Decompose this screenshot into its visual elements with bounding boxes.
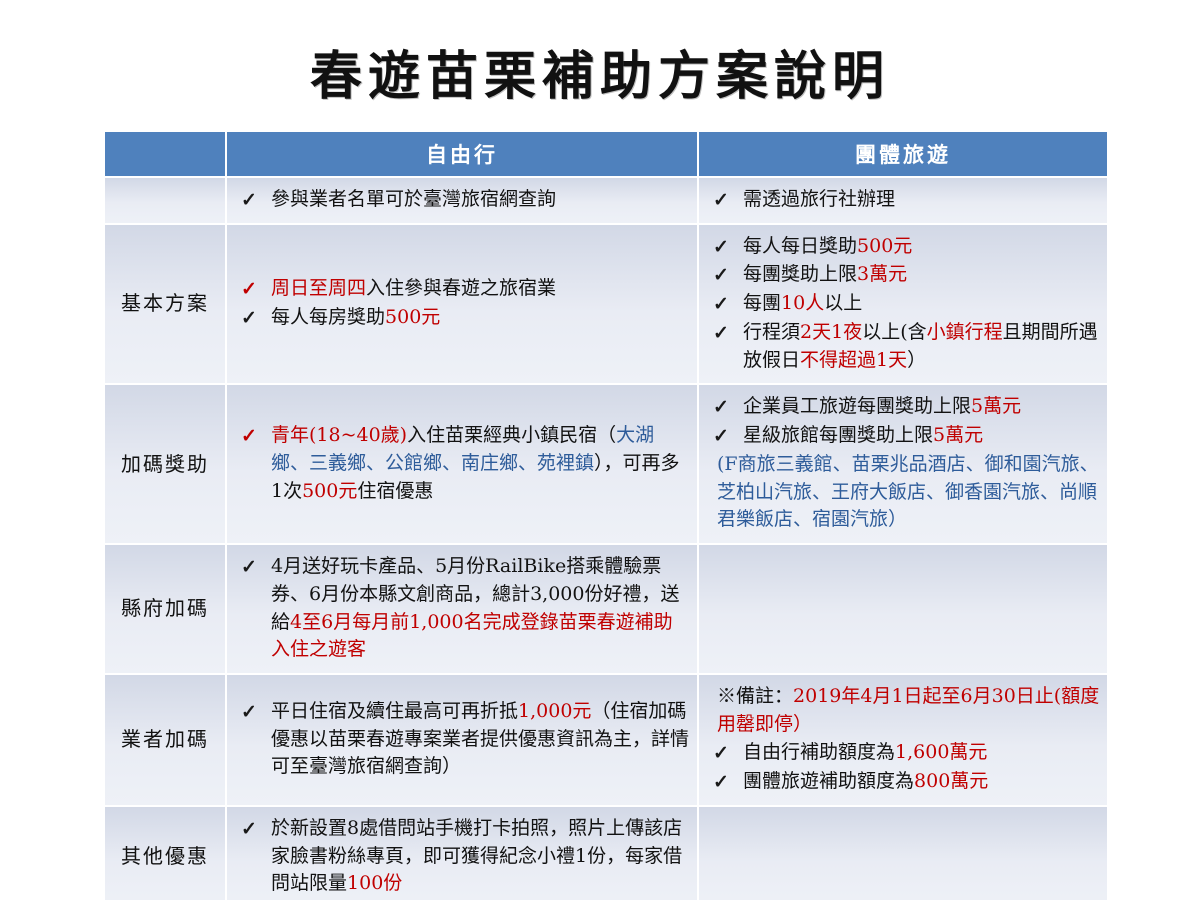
list-item: ✓每人每日獎助500元 [709,233,1101,261]
check-icon: ✓ [241,423,257,451]
list-item: ✓團體旅遊補助額度為800萬元 [709,768,1101,796]
header-group-tour: 團體旅遊 [699,132,1107,176]
text-segment: ） [907,349,926,371]
check-icon: ✓ [241,187,257,215]
text-segment: 每人每日獎助 [743,235,857,257]
cell-group-0: ✓需透過旅行社辦理 [699,178,1107,223]
table-row: 縣府加碼✓4月送好玩卡產品、5月份RailBike搭乘體驗票券、6月份本縣文創商… [105,545,1107,673]
cell-free-3: ✓4月送好玩卡產品、5月份RailBike搭乘體驗票券、6月份本縣文創商品，總計… [227,545,697,673]
check-icon: ✓ [713,394,729,422]
list-item: ✓4月送好玩卡產品、5月份RailBike搭乘體驗票券、6月份本縣文創商品，總計… [237,553,691,664]
row-label-2: 加碼獎助 [105,385,225,543]
text-segment: 不得超過1天 [800,349,907,371]
text-segment: 500元 [302,480,357,502]
text-segment: 800萬元 [914,770,988,792]
cell-group-2: ✓企業員工旅遊每團獎助上限5萬元✓星級旅館每團獎助上限5萬元(F商旅三義館、苗栗… [699,385,1107,543]
text-segment: 星級旅館每團獎助上限 [743,424,933,446]
text-segment: 2天1夜 [800,321,862,343]
list-item: ✓平日住宿及續住最高可再折抵1,000元（住宿加碼優惠以苗栗春遊專案業者提供優惠… [237,698,691,781]
cell-free-1: ✓周日至周四入住參與春遊之旅宿業✓每人每房獎助500元 [227,225,697,384]
check-icon: ✓ [713,291,729,319]
list-item: ✓每團10人以上 [709,290,1101,318]
check-icon: ✓ [713,320,729,348]
text-segment: 每團獎助上限 [743,263,857,285]
text-segment: 10人 [781,292,824,314]
list-item: ✓青年(18~40歲)入住苗栗經典小鎮民宿（大湖鄉、三義鄉、公館鄉、南庄鄉、苑裡… [237,422,691,505]
table-row: 基本方案✓周日至周四入住參與春遊之旅宿業✓每人每房獎助500元✓每人每日獎助50… [105,225,1107,384]
list-item: ✓自由行補助額度為1,600萬元 [709,739,1101,767]
cell-group-3 [699,545,1107,673]
text-segment: 住宿優惠 [357,480,433,502]
text-segment: 行程須 [743,321,800,343]
table-body: ✓參與業者名單可於臺灣旅宿網查詢✓需透過旅行社辦理基本方案✓周日至周四入住參與春… [105,178,1107,900]
row-label-1: 基本方案 [105,225,225,384]
text-segment: 周日至周四 [271,277,366,299]
header-free-travel: 自由行 [227,132,697,176]
text-segment: 需透過旅行社辦理 [743,188,895,210]
check-icon: ✓ [241,816,257,844]
cell-group-1: ✓每人每日獎助500元✓每團獎助上限3萬元✓每團10人以上✓行程須2天1夜以上(… [699,225,1107,384]
check-icon: ✓ [713,187,729,215]
footer: 苗栗縣政府 Miaoli County Government 苗栗縣政府文化觀光… [0,848,1200,900]
table-row: 加碼獎助✓青年(18~40歲)入住苗栗經典小鎮民宿（大湖鄉、三義鄉、公館鄉、南庄… [105,385,1107,543]
text-segment: 5萬元 [933,424,983,446]
check-icon: ✓ [241,699,257,727]
list-item: ✓企業員工旅遊每團獎助上限5萬元 [709,393,1101,421]
text-segment: 5萬元 [971,395,1021,417]
list-item: ✓周日至周四入住參與春遊之旅宿業 [237,275,691,303]
table-header-row: 自由行 團體旅遊 [105,132,1107,176]
header-corner [105,132,225,176]
text-segment: 每人每房獎助 [271,306,385,328]
text-segment: 以上 [824,292,862,314]
list-item: ※備註：2019年4月1日起至6月30日止(額度用罄即停） [709,683,1101,738]
cell-free-0: ✓參與業者名單可於臺灣旅宿網查詢 [227,178,697,223]
text-segment: 3萬元 [857,263,907,285]
check-icon: ✓ [713,769,729,797]
row-label-4: 業者加碼 [105,675,225,805]
row-label-0 [105,178,225,223]
list-item: ✓行程須2天1夜以上(含小鎮行程且期間所遇放假日不得超過1天） [709,319,1101,374]
list-item: (F商旅三義館、苗栗兆品酒店、御和園汽旅、芝柏山汽旅、王府大飯店、御香園汽旅、尚… [709,451,1101,534]
check-icon: ✓ [241,305,257,333]
text-segment: 團體旅遊補助額度為 [743,770,914,792]
check-icon: ✓ [713,234,729,262]
text-segment: 入住苗栗經典小鎮民宿（ [407,424,616,446]
check-icon: ✓ [241,276,257,304]
text-segment: 平日住宿及續住最高可再折抵 [271,700,518,722]
row-label-3: 縣府加碼 [105,545,225,673]
list-item: ✓每人每房獎助500元 [237,304,691,332]
slide-page: 春遊苗栗補助方案說明 自由行 團體旅遊 ✓參與業者名單可於臺灣旅宿網查詢✓需透過… [0,0,1200,900]
text-segment: (F商旅三義館、苗栗兆品酒店、御和園汽旅、芝柏山汽旅、王府大飯店、御香園汽旅、尚… [717,453,1099,530]
cell-free-2: ✓青年(18~40歲)入住苗栗經典小鎮民宿（大湖鄉、三義鄉、公館鄉、南庄鄉、苑裡… [227,385,697,543]
text-segment: 小鎮行程 [927,321,1003,343]
text-segment: 以上(含 [862,321,926,343]
text-segment: 1,600萬元 [895,741,987,763]
list-item: ✓星級旅館每團獎助上限5萬元 [709,422,1101,450]
text-segment: 企業員工旅遊每團獎助上限 [743,395,971,417]
text-segment: 參與業者名單可於臺灣旅宿網查詢 [271,188,556,210]
table-row: 業者加碼✓平日住宿及續住最高可再折抵1,000元（住宿加碼優惠以苗栗春遊專案業者… [105,675,1107,805]
cell-group-4: ※備註：2019年4月1日起至6月30日止(額度用罄即停）✓自由行補助額度為1,… [699,675,1107,805]
text-segment: 500元 [857,235,912,257]
list-item: ✓參與業者名單可於臺灣旅宿網查詢 [237,186,691,214]
check-icon: ✓ [713,740,729,768]
text-segment: 入住參與春遊之旅宿業 [366,277,556,299]
check-icon: ✓ [713,262,729,290]
cell-free-4: ✓平日住宿及續住最高可再折抵1,000元（住宿加碼優惠以苗栗春遊專案業者提供優惠… [227,675,697,805]
text-segment: 1,000元 [518,700,591,722]
table-row: ✓參與業者名單可於臺灣旅宿網查詢✓需透過旅行社辦理 [105,178,1107,223]
list-item: ✓需透過旅行社辦理 [709,186,1101,214]
check-icon: ✓ [713,423,729,451]
text-segment: 青年(18~40歲) [271,424,407,446]
page-title: 春遊苗栗補助方案說明 [0,34,1200,109]
text-segment: ※備註： [717,685,793,707]
text-segment: 每團 [743,292,781,314]
text-segment: 自由行補助額度為 [743,741,895,763]
list-item: ✓每團獎助上限3萬元 [709,261,1101,289]
subsidy-table: 自由行 團體旅遊 ✓參與業者名單可於臺灣旅宿網查詢✓需透過旅行社辦理基本方案✓周… [103,130,1109,900]
check-icon: ✓ [241,554,257,582]
text-segment: 4至6月每月前1,000名完成登錄苗栗春遊補助入住之遊客 [271,611,673,661]
text-segment: 500元 [385,306,440,328]
